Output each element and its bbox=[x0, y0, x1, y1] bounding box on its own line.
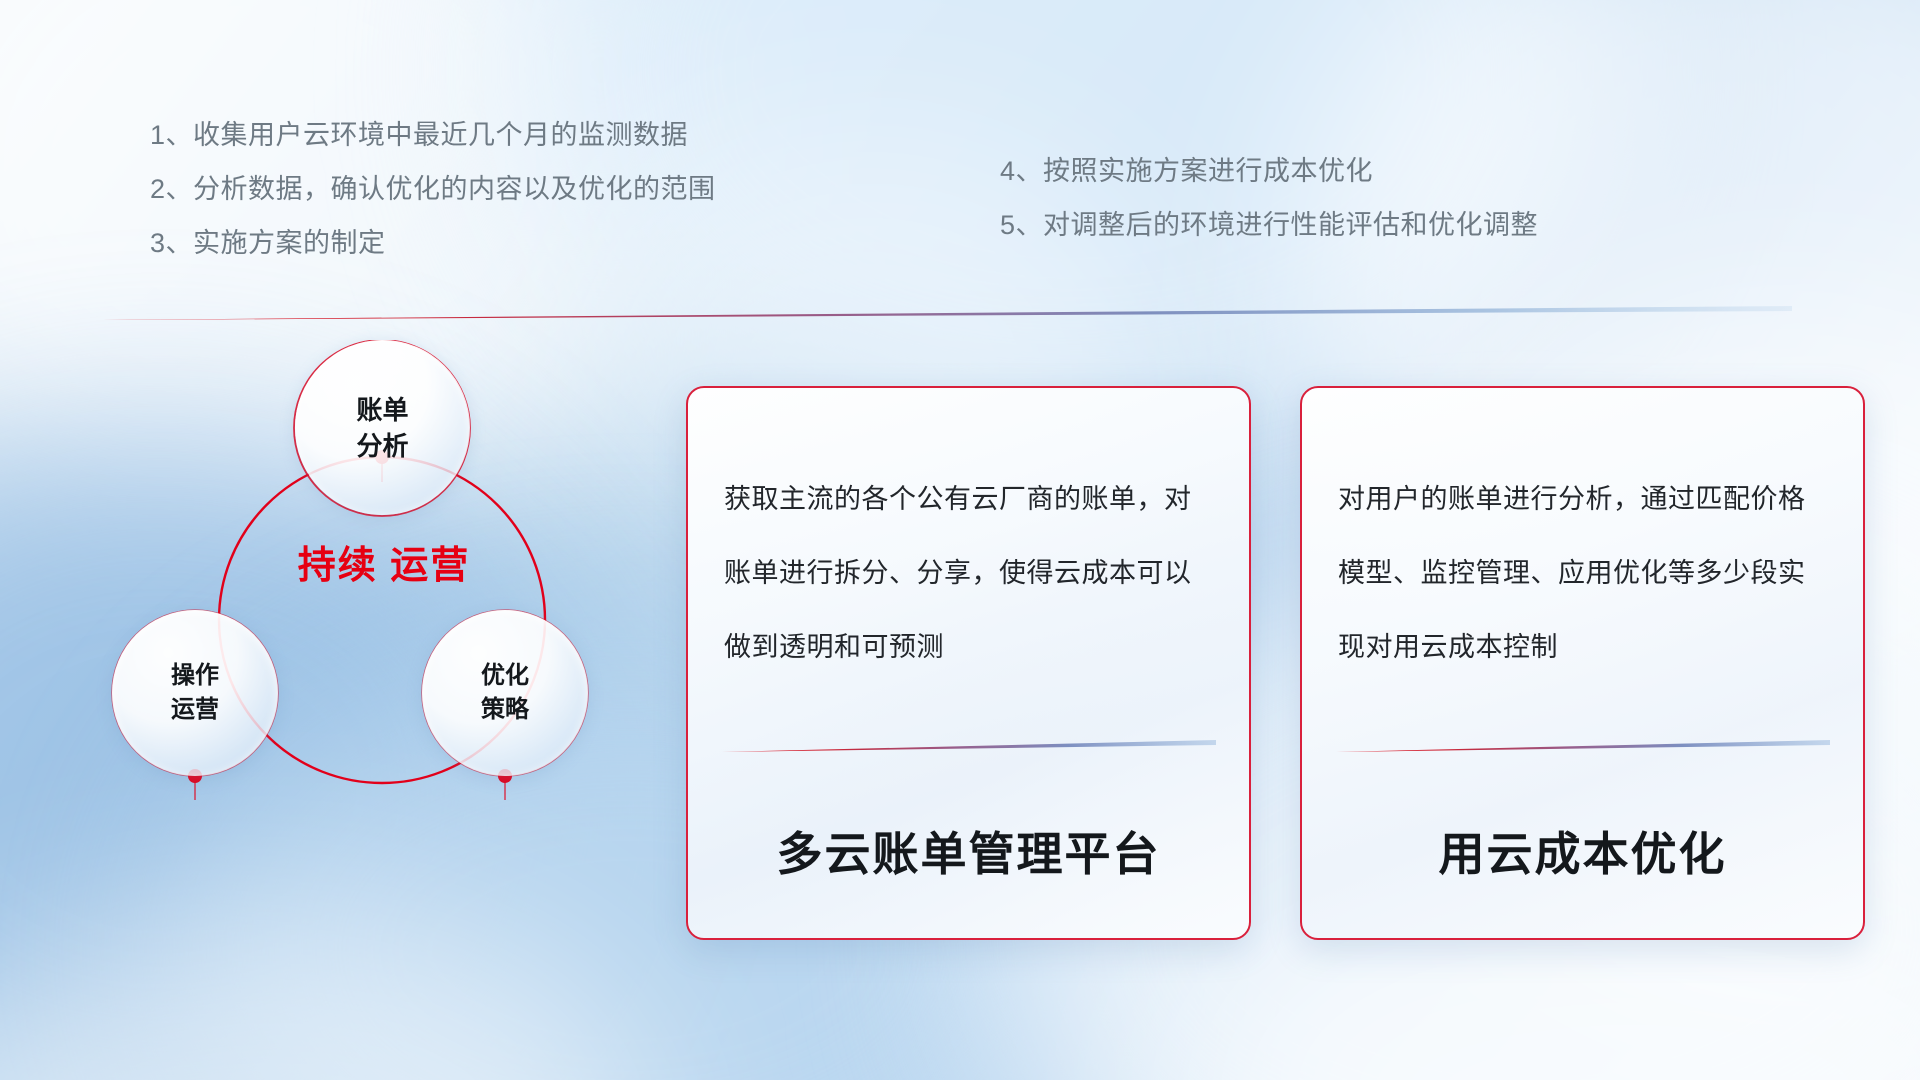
slide-canvas: 1、收集用户云环境中最近几个月的监测数据 2、分析数据，确认优化的内容以及优化的… bbox=[0, 0, 1920, 1080]
feature-card-cloud-cost-optimization[interactable]: 对用户的账单进行分析，通过匹配价格模型、监控管理、应用优化等多少段实现对用云成本… bbox=[1300, 386, 1865, 940]
feature-card-cloud-cost-optimization-rule bbox=[1336, 740, 1830, 752]
diagram-node-operations-line1: 操作 bbox=[171, 659, 219, 693]
diagram-center-label: 持续 运营 bbox=[294, 543, 474, 589]
diagram-node-operations-line2: 运营 bbox=[171, 693, 219, 727]
diagram-center-label-line1: 持续 bbox=[298, 545, 378, 587]
section-divider-shape bbox=[102, 306, 1792, 320]
steps-column-right: 4、按照实施方案进行成本优化 5、对调整后的环境进行性能评估和优化调整 bbox=[1000, 144, 1538, 252]
diagram-node-optimization-strategy[interactable]: 优化 策略 bbox=[422, 610, 588, 776]
step-item-5: 5、对调整后的环境进行性能评估和优化调整 bbox=[1000, 198, 1538, 252]
diagram-center-label-line2: 运营 bbox=[390, 545, 470, 587]
step-item-2: 2、分析数据，确认优化的内容以及优化的范围 bbox=[150, 162, 716, 216]
feature-card-multicloud-billing-rule bbox=[722, 740, 1216, 752]
steps-column-left: 1、收集用户云环境中最近几个月的监测数据 2、分析数据，确认优化的内容以及优化的… bbox=[150, 108, 716, 270]
continuous-operation-diagram: 账单 分析 操作 运营 优化 策略 持续 运营 bbox=[90, 340, 650, 960]
feature-card-cloud-cost-optimization-title: 用云成本优化 bbox=[1302, 818, 1863, 884]
diagram-node-operations[interactable]: 操作 运营 bbox=[112, 610, 278, 776]
diagram-node-bill-analysis-line2: 分析 bbox=[356, 428, 408, 464]
feature-card-multicloud-billing-title: 多云账单管理平台 bbox=[688, 818, 1249, 884]
feature-card-multicloud-billing-body: 获取主流的各个公有云厂商的账单，对账单进行拆分、分享，使得云成本可以做到透明和可… bbox=[724, 462, 1218, 684]
process-steps: 1、收集用户云环境中最近几个月的监测数据 2、分析数据，确认优化的内容以及优化的… bbox=[0, 108, 1920, 288]
section-divider bbox=[102, 306, 1792, 320]
step-item-4: 4、按照实施方案进行成本优化 bbox=[1000, 144, 1538, 198]
diagram-node-bill-analysis-line1: 账单 bbox=[356, 392, 408, 428]
step-item-1: 1、收集用户云环境中最近几个月的监测数据 bbox=[150, 108, 716, 162]
diagram-node-optimization-strategy-line1: 优化 bbox=[481, 659, 529, 693]
feature-card-multicloud-billing[interactable]: 获取主流的各个公有云厂商的账单，对账单进行拆分、分享，使得云成本可以做到透明和可… bbox=[686, 386, 1251, 940]
step-item-3: 3、实施方案的制定 bbox=[150, 216, 716, 270]
feature-card-cloud-cost-optimization-body: 对用户的账单进行分析，通过匹配价格模型、监控管理、应用优化等多少段实现对用云成本… bbox=[1338, 462, 1832, 684]
diagram-node-optimization-strategy-line2: 策略 bbox=[481, 693, 529, 727]
diagram-node-bill-analysis[interactable]: 账单 分析 bbox=[295, 340, 470, 515]
